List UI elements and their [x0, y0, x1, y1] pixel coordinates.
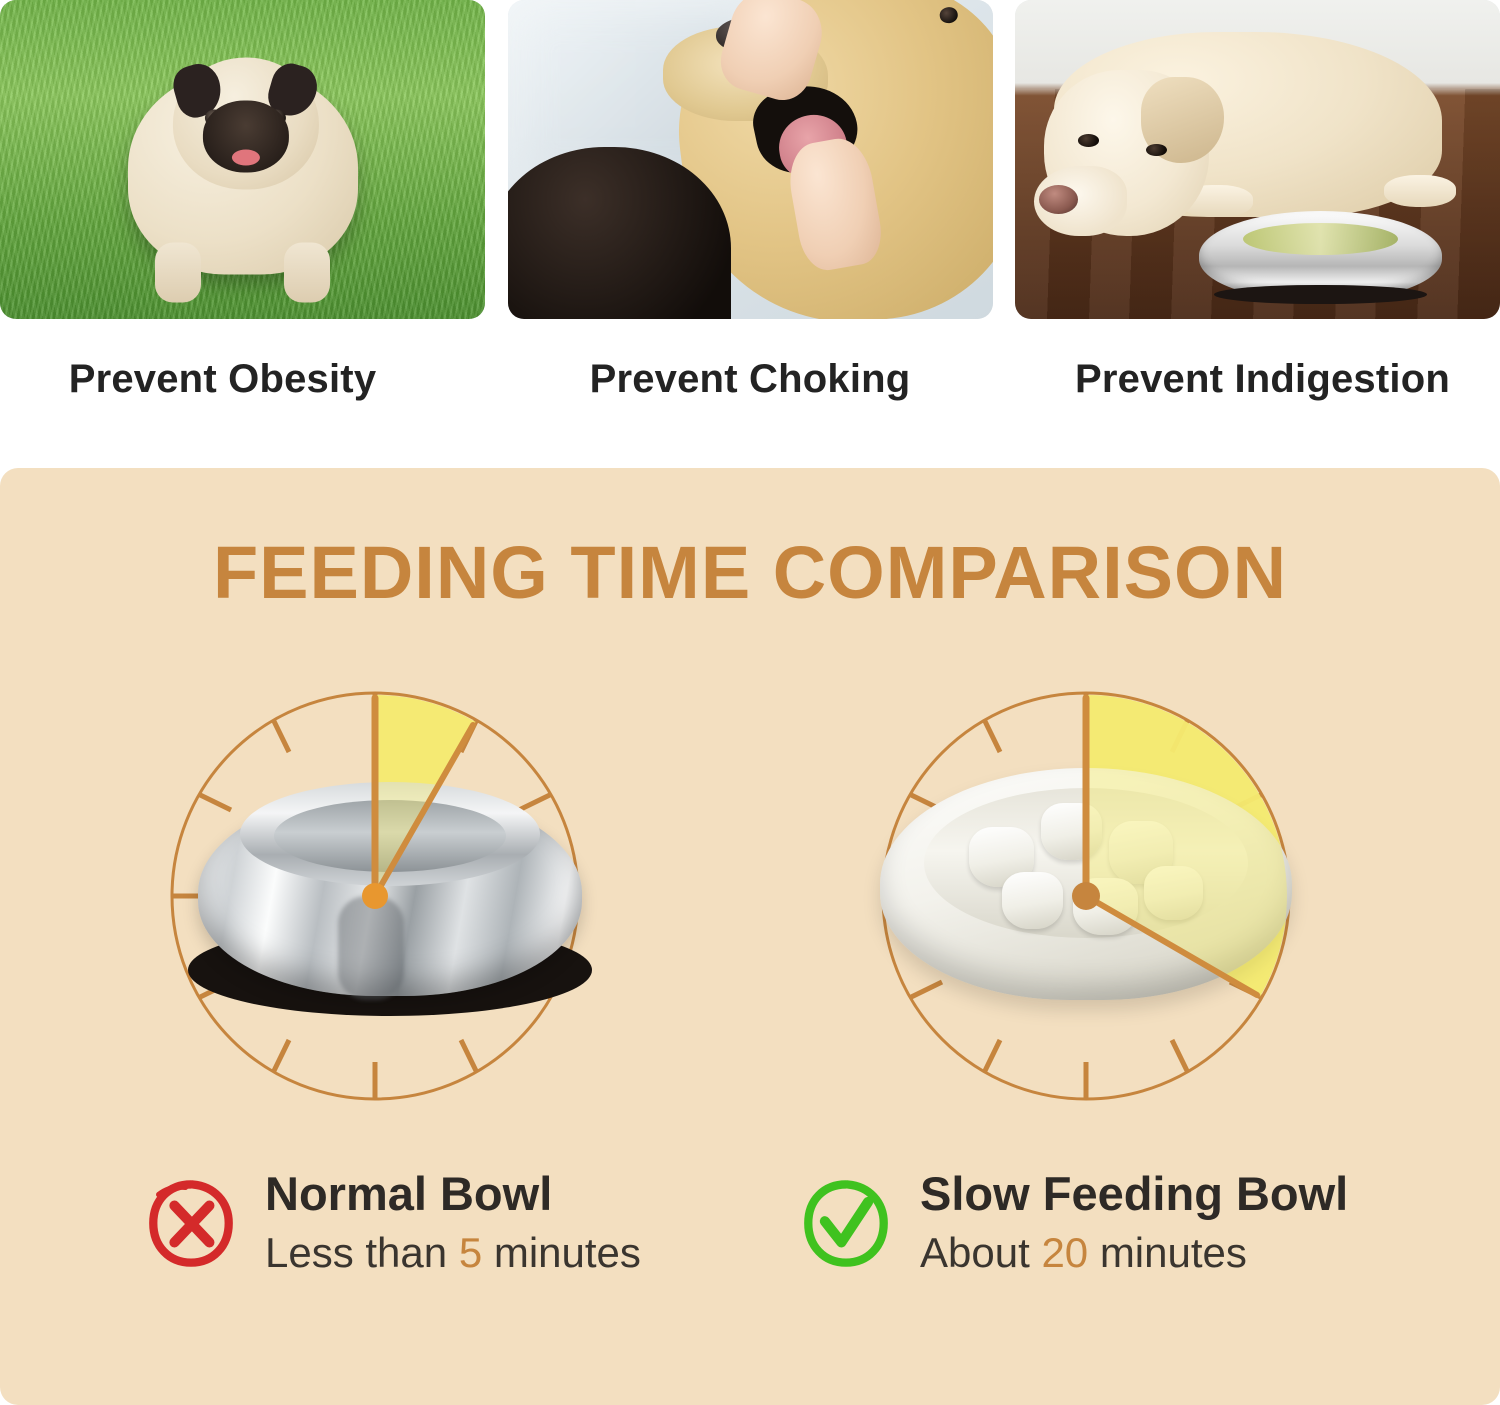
photo-prevent-choking — [508, 0, 993, 319]
photo-prevent-obesity — [0, 0, 485, 319]
green-check-icon — [800, 1178, 892, 1270]
results-row: Normal Bowl Less than 5 minutes Slow Fee… — [0, 1168, 1500, 1328]
result-title-slow: Slow Feeding Bowl — [920, 1168, 1348, 1221]
result-subtitle-slow: About 20 minutes — [920, 1227, 1348, 1280]
clock-normal-bowl — [160, 668, 620, 1138]
benefit-label-choking: Prevent Choking — [590, 357, 911, 402]
infographic-page: Prevent Obesity Prevent Choking — [0, 0, 1500, 1405]
red-cross-icon — [145, 1178, 237, 1270]
pug-leg-left — [155, 243, 201, 303]
panel-title: FEEDING TIME COMPARISON — [0, 530, 1500, 615]
result-sub-suffix-slow: minutes — [1088, 1229, 1247, 1276]
pug-head — [172, 57, 318, 189]
clock-dial-normal-svg — [160, 668, 620, 1138]
benefit-card-obesity: Prevent Obesity — [0, 0, 485, 430]
pug-tongue — [231, 149, 259, 165]
labrador-nose — [1039, 185, 1078, 214]
bowl-food — [1243, 223, 1398, 255]
result-sub-prefix-normal: Less than — [265, 1229, 459, 1276]
benefit-label-obesity: Prevent Obesity — [69, 357, 377, 402]
result-normal-text: Normal Bowl Less than 5 minutes — [265, 1168, 641, 1279]
result-sub-prefix-slow: About — [920, 1229, 1041, 1276]
clock-slow-bowl — [856, 668, 1316, 1138]
result-slow-bowl: Slow Feeding Bowl About 20 minutes — [800, 1168, 1348, 1279]
result-sub-value-normal: 5 — [459, 1229, 482, 1276]
clock-dial-slow-svg — [856, 668, 1316, 1138]
time-wedge-slow — [1086, 695, 1287, 997]
benefit-card-choking: Prevent Choking — [508, 0, 993, 430]
pug-illustration — [128, 70, 358, 275]
result-subtitle-normal: Less than 5 minutes — [265, 1227, 641, 1280]
photo-prevent-indigestion — [1015, 0, 1500, 319]
result-title-normal: Normal Bowl — [265, 1168, 641, 1221]
result-slow-text: Slow Feeding Bowl About 20 minutes — [920, 1168, 1348, 1279]
clock-dials — [0, 668, 1500, 1138]
benefit-label-indigestion: Prevent Indigestion — [1075, 357, 1450, 402]
steel-food-bowl — [1199, 211, 1442, 300]
result-sub-suffix-normal: minutes — [482, 1229, 641, 1276]
pug-leg-right — [284, 243, 330, 303]
dog-eye — [939, 7, 959, 25]
comparison-panel: FEEDING TIME COMPARISON — [0, 468, 1500, 1405]
result-normal-bowl: Normal Bowl Less than 5 minutes — [145, 1168, 641, 1279]
benefit-card-indigestion: Prevent Indigestion — [1015, 0, 1500, 430]
labrador-paw-rear — [1384, 175, 1457, 207]
labrador-eye-left — [1078, 134, 1099, 147]
benefits-row: Prevent Obesity Prevent Choking — [0, 0, 1500, 430]
time-wedge-normal — [375, 695, 476, 896]
result-sub-value-slow: 20 — [1041, 1229, 1088, 1276]
